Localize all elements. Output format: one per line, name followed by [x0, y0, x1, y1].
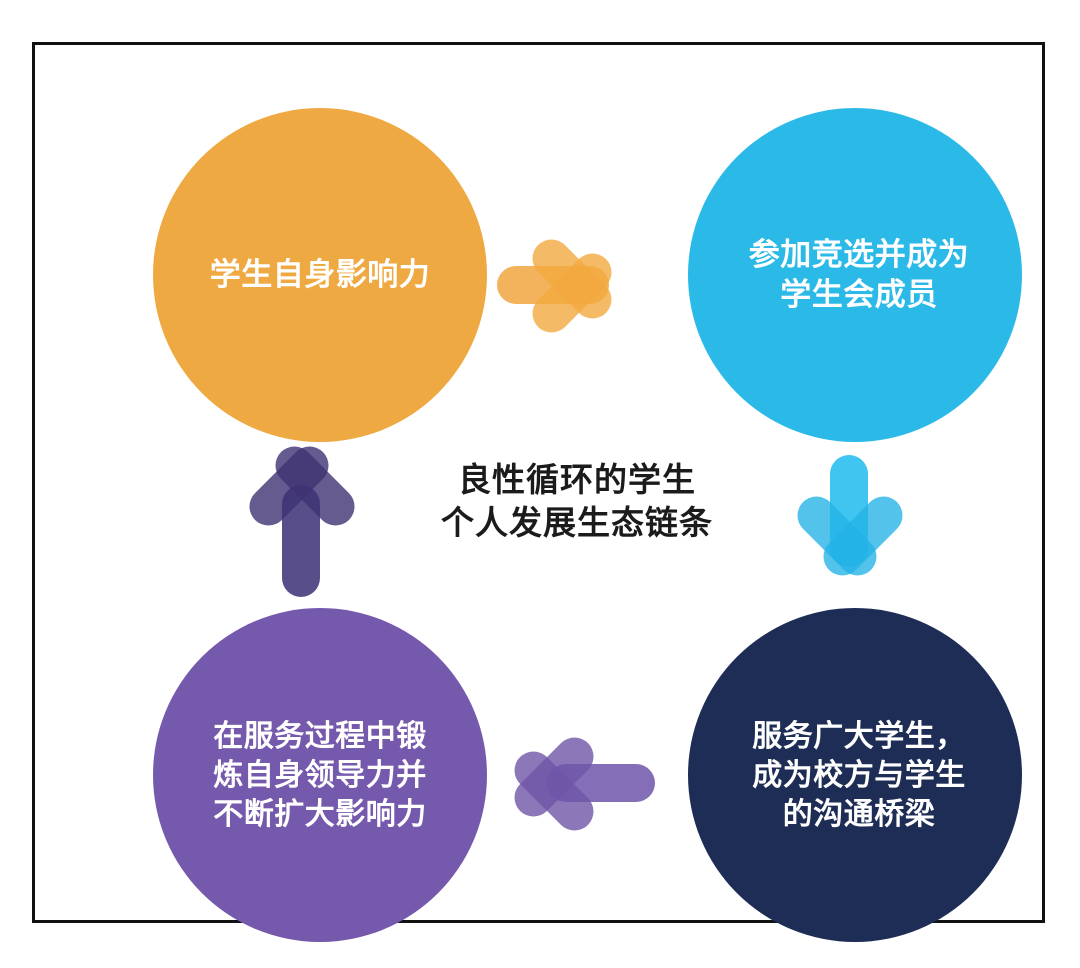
node-label-student-influence: 学生自身影响力: [196, 255, 445, 295]
arrow-up-icon: [249, 455, 353, 597]
node-student-influence[interactable]: 学生自身影响力: [153, 108, 487, 442]
node-join-election[interactable]: 参加竞选并成为 学生会成员: [688, 108, 1022, 442]
node-serve-students[interactable]: 服务广大学生， 成为校方与学生 的沟通桥梁: [688, 608, 1022, 942]
diagram-center-title: 良性循环的学生 个人发展生态链条: [427, 459, 727, 545]
diagram-frame: 学生自身影响力 参加竞选并成为 学生会成员 服务广大学生， 成为校方与学生 的沟…: [32, 42, 1045, 923]
arrow-down-icon: [797, 455, 901, 595]
node-label-build-leadership: 在服务过程中锻 炼自身领导力并 不断扩大影响力: [199, 717, 441, 834]
diagram-canvas: 学生自身影响力 参加竞选并成为 学生会成员 服务广大学生， 成为校方与学生 的沟…: [0, 0, 1080, 968]
arrow-left-icon: [513, 731, 655, 835]
arrow-right-icon: [497, 233, 657, 337]
node-build-leadership[interactable]: 在服务过程中锻 炼自身领导力并 不断扩大影响力: [153, 608, 487, 942]
node-label-join-election: 参加竞选并成为 学生会成员: [735, 235, 984, 316]
node-label-serve-students: 服务广大学生， 成为校方与学生 的沟通桥梁: [738, 717, 980, 834]
